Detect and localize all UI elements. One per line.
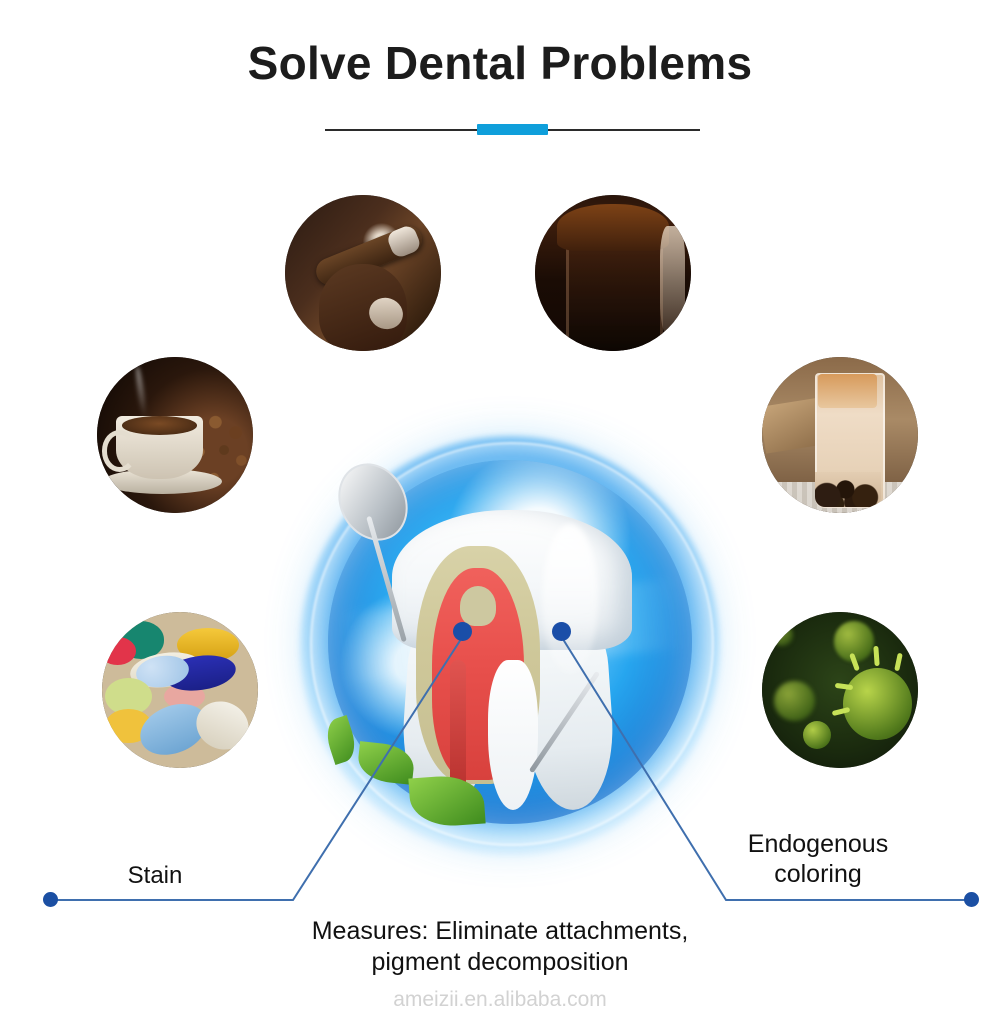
callout-dot-tooth-enamel [552, 622, 571, 641]
measures-line2: pigment decomposition [240, 947, 760, 978]
tooth-root-canal [450, 660, 466, 790]
cola-foam [557, 204, 669, 251]
tapioca-pearls [815, 472, 881, 506]
measures-line1: Measures: Eliminate attachments, [240, 916, 760, 947]
page-title: Solve Dental Problems [0, 36, 1000, 90]
photo-coffee-cup [97, 357, 253, 513]
photo-bacteria-germs [762, 612, 918, 768]
cola-highlight [660, 226, 685, 335]
tooth-root-gap [488, 660, 538, 810]
germ-spike [894, 652, 903, 671]
cola-image [535, 195, 691, 351]
ice-cubes [818, 374, 877, 408]
germ-cell-front [843, 668, 912, 740]
germ-cell-small [803, 721, 831, 749]
watermark-url: ameizii.en.alibaba.com [0, 988, 1000, 1012]
title-divider-accent [477, 124, 548, 135]
poster-canvas: Solve Dental Problems [0, 0, 1000, 1031]
dental-mirror-tool [334, 462, 454, 652]
callout-dot-left-end [43, 892, 58, 907]
photo-cigar-smoking [285, 195, 441, 351]
coffee-liquid [122, 416, 197, 435]
central-tooth-graphic [300, 436, 720, 866]
photo-bubble-milk-tea [762, 357, 918, 513]
label-measures: Measures: Eliminate attachments, pigment… [240, 916, 760, 977]
pill-red [102, 637, 136, 665]
photo-medicine-pills [102, 612, 258, 768]
steam-wisp [134, 366, 147, 419]
bacteria-image [762, 612, 918, 768]
label-endogenous-coloring: Endogenous coloring [718, 830, 918, 889]
germ-cell-back-corner [771, 624, 793, 646]
cigar-image [285, 195, 441, 351]
callout-dot-tooth-pulp [453, 622, 472, 641]
label-stain: Stain [85, 862, 225, 890]
photo-cola-drink [535, 195, 691, 351]
label-endogenous-line1: Endogenous [718, 830, 918, 860]
label-endogenous-line2: coloring [718, 860, 918, 890]
coffee-image [97, 357, 253, 513]
germ-spike [874, 646, 880, 666]
milk-tea-image [762, 357, 918, 513]
pills-image [102, 612, 258, 768]
germ-cell-back-left [774, 681, 815, 722]
callout-dot-right-end [964, 892, 979, 907]
tooth-enamel-shine [542, 524, 598, 674]
coffee-handle [102, 430, 137, 471]
